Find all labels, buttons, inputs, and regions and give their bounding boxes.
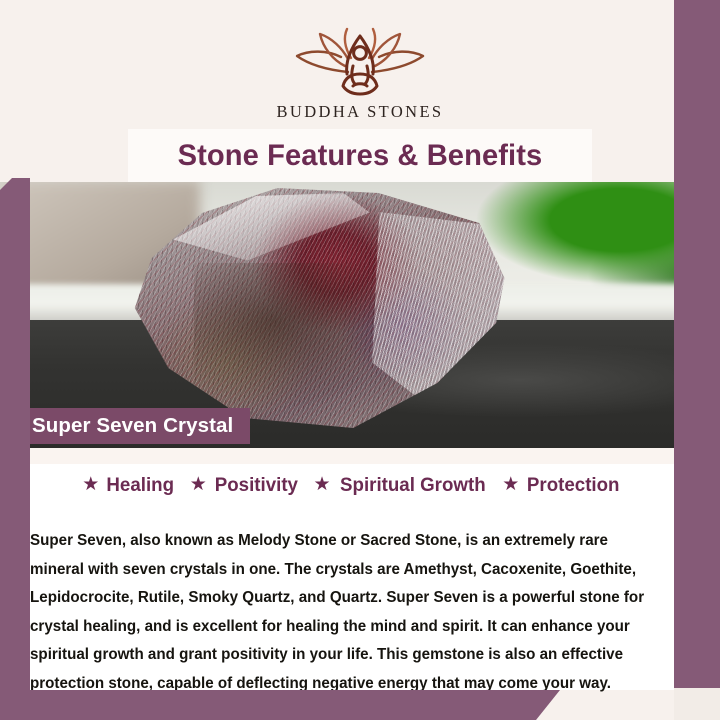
star-icon: ★: [82, 475, 99, 494]
stone-name-banner: Super Seven Crystal: [10, 408, 250, 444]
lotus-meditation-icon: [285, 26, 435, 98]
content-top-strip: [30, 448, 674, 464]
star-icon: ★: [190, 475, 207, 494]
benefit-item-spiritual-growth: ★ Spiritual Growth: [314, 474, 489, 497]
star-icon: ★: [502, 475, 519, 494]
benefit-item-positivity: ★ Positivity: [190, 474, 300, 497]
content-section: ★ Healing ★ Positivity ★ Spiritual Growt…: [30, 450, 674, 690]
star-icon: ★: [314, 475, 331, 494]
benefit-item-protection: ★ Protection: [502, 474, 621, 497]
frame-bottom-band: [0, 690, 560, 720]
benefit-label: Spiritual Growth: [340, 474, 486, 497]
benefit-label: Protection: [527, 474, 620, 497]
benefits-row: ★ Healing ★ Positivity ★ Spiritual Growt…: [30, 474, 674, 497]
brand-name: BUDDHA STONES: [0, 102, 720, 122]
stone-description: Super Seven, also known as Melody Stone …: [30, 527, 664, 698]
brand-logo: BUDDHA STONES: [0, 26, 720, 122]
benefit-label: Healing: [107, 474, 175, 497]
stone-name-label: Super Seven Crystal: [32, 414, 233, 438]
benefit-item-healing: ★ Healing: [82, 474, 175, 497]
page-title-panel: Stone Features & Benefits: [128, 129, 592, 182]
frame-right-band: [674, 0, 720, 690]
benefit-label: Positivity: [215, 474, 298, 497]
frame-bottom-right-notch: [674, 688, 720, 720]
page-title: Stone Features & Benefits: [178, 139, 543, 173]
crystal-shadow-zone: [194, 263, 396, 408]
frame-left-band: [0, 178, 30, 698]
stone-features-infographic: BUDDHA STONES Stone Features & Benefits …: [0, 0, 720, 720]
